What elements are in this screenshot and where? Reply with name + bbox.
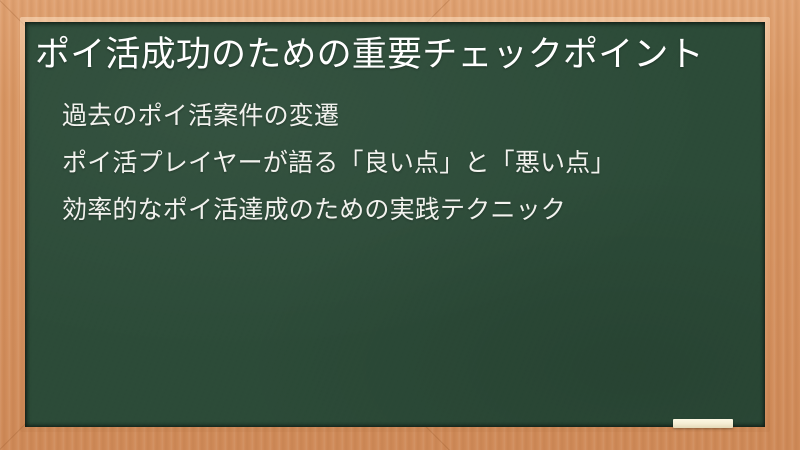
chalkboard-slide: ポイ活成功のための重要チェックポイント 過去のポイ活案件の変遷 ポイ活プレイヤー… xyxy=(0,0,800,450)
slide-title: ポイ活成功のための重要チェックポイント xyxy=(35,32,747,78)
slide-content: ポイ活成功のための重要チェックポイント 過去のポイ活案件の変遷 ポイ活プレイヤー… xyxy=(25,22,765,223)
list-item: 過去のポイ活案件の変遷 xyxy=(62,104,747,129)
chalkboard-surface: ポイ活成功のための重要チェックポイント 過去のポイ活案件の変遷 ポイ活プレイヤー… xyxy=(25,22,765,427)
list-item: ポイ活プレイヤーが語る「良い点」と「悪い点」 xyxy=(62,151,747,176)
chalk-stick-icon xyxy=(673,419,733,428)
bullet-list: 過去のポイ活案件の変遷 ポイ活プレイヤーが語る「良い点」と「悪い点」 効率的なポ… xyxy=(35,104,747,223)
list-item: 効率的なポイ活達成のための実践テクニック xyxy=(62,198,747,223)
